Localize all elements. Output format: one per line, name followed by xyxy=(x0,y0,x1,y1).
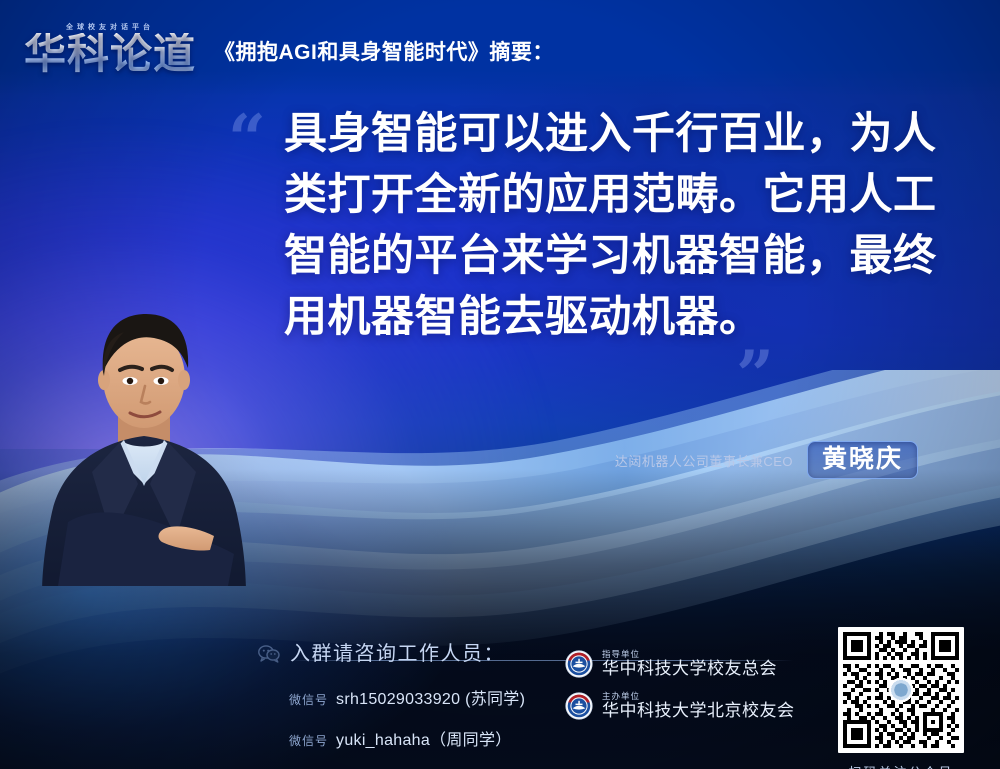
organization-name: 华中科技大学校友总会 xyxy=(602,660,777,679)
contact-block: 入群请咨询工作人员： 微信号 srh15029033920 (苏同学) 微信号 … xyxy=(258,637,588,750)
quote-section: “ ” 具身智能可以进入千行百业，为人类打开全新的应用范畴。它用人工智能的平台来… xyxy=(228,104,948,348)
qr-code-image[interactable] xyxy=(838,627,964,753)
organization-kind: 指导单位 xyxy=(602,649,777,659)
speaker-portrait xyxy=(28,286,260,586)
poster-root: 全球校友对话平台 华科论道 《拥抱AGI和具身智能时代》摘要： “ ” 具身智能… xyxy=(0,0,1000,769)
contact-row: 微信号 yuki_hahaha（周同学） xyxy=(289,726,588,750)
organization-item: 主办单位 华中科技大学北京校友会 xyxy=(565,691,795,721)
contact-value[interactable]: yuki_hahaha（周同学） xyxy=(336,726,512,750)
wechat-icon xyxy=(258,645,280,668)
quote-close-icon: ” xyxy=(736,342,774,408)
contact-label: 微信号 xyxy=(289,732,328,749)
quote-text: 具身智能可以进入千行百业，为人类打开全新的应用范畴。它用人工智能的平台来学习机器… xyxy=(284,104,948,348)
qr-caption: 扫码关注公众号 xyxy=(838,762,964,769)
quote-open-icon: “ xyxy=(228,106,266,172)
organizations-block: 指导单位 华中科技大学校友总会 xyxy=(565,649,795,733)
organization-item: 指导单位 华中科技大学校友总会 xyxy=(565,649,795,679)
contact-value[interactable]: srh15029033920 (苏同学) xyxy=(336,685,525,709)
page-title: 《拥抱AGI和具身智能时代》摘要： xyxy=(214,36,554,66)
university-seal-icon xyxy=(565,692,593,720)
speaker-role: 达闼机器人公司董事长兼CEO xyxy=(615,451,793,470)
poster-header: 全球校友对话平台 华科论道 《拥抱AGI和具身智能时代》摘要： xyxy=(0,0,1000,96)
contact-row: 微信号 srh15029033920 (苏同学) xyxy=(289,685,588,709)
organization-text: 主办单位 华中科技大学北京校友会 xyxy=(602,691,795,721)
organization-text: 指导单位 华中科技大学校友总会 xyxy=(602,649,777,679)
qr-block: 扫码关注公众号 xyxy=(838,627,964,769)
organization-kind: 主办单位 xyxy=(602,691,795,701)
speaker-name-badge: 黄晓庆 xyxy=(807,441,918,480)
organization-name: 华中科技大学北京校友会 xyxy=(602,702,795,721)
university-seal-icon xyxy=(565,650,593,678)
logo-wordmark: 华科论道 xyxy=(24,33,196,75)
poster-footer: 入群请咨询工作人员： 微信号 srh15029033920 (苏同学) 微信号 … xyxy=(0,609,1000,769)
logo-tagline: 全球校友对话平台 xyxy=(66,22,154,32)
contact-header: 入群请咨询工作人员： xyxy=(258,637,588,668)
brand-logo: 全球校友对话平台 华科论道 xyxy=(24,22,196,75)
contact-label: 微信号 xyxy=(289,691,328,708)
attribution: 达闼机器人公司董事长兼CEO 黄晓庆 xyxy=(600,441,918,479)
contact-title: 入群请咨询工作人员： xyxy=(290,637,505,666)
